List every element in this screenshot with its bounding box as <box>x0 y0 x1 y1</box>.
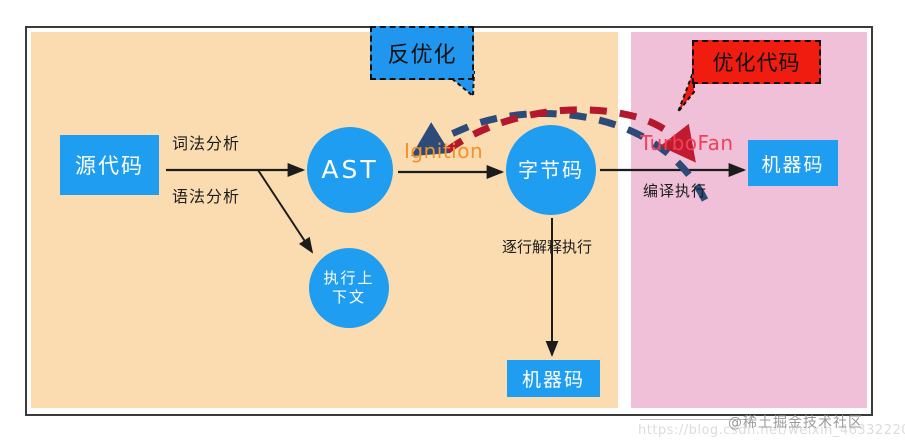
node-execution-context-label-line2: 下文 <box>332 288 366 307</box>
callout-optimize-code-label: 优化代码 <box>713 47 801 77</box>
node-machine-code-compiled[interactable]: 机器码 <box>748 140 838 186</box>
node-source-code-label: 源代码 <box>75 150 144 180</box>
node-machine-code-compiled-label: 机器码 <box>761 150 824 177</box>
node-ast[interactable]: AST <box>307 127 393 213</box>
edge-label-interpret-step-by-step: 逐行解释执行 <box>502 238 522 256</box>
edge-label-ignition: Ignition <box>404 139 483 163</box>
edge-label-syntax-analysis: 语法分析 <box>172 183 240 207</box>
callout-optimize-code[interactable]: 优化代码 <box>692 40 821 84</box>
node-source-code[interactable]: 源代码 <box>60 135 159 195</box>
node-machine-code-interpreted[interactable]: 机器码 <box>507 360 600 397</box>
node-ast-label: AST <box>321 154 378 185</box>
diagram-canvas: 源代码 AST 执行上 下文 字节码 机器码 机器码 词法分析 语法分析 Ign… <box>0 0 905 447</box>
node-execution-context[interactable]: 执行上 下文 <box>309 248 389 328</box>
compiler-panel <box>631 32 867 408</box>
node-bytecode-label: 字节码 <box>518 158 584 183</box>
node-execution-context-label-line1: 执行上 <box>323 269 374 288</box>
node-machine-code-interpreted-label: 机器码 <box>522 365 585 392</box>
interpreter-panel <box>31 32 618 408</box>
callout-deoptimize[interactable]: 反优化 <box>370 26 474 80</box>
watermark-handle: @稀土掘金技术社区 <box>728 412 863 432</box>
edge-label-lexical-analysis: 词法分析 <box>172 130 240 154</box>
callout-deoptimize-label: 反优化 <box>387 37 456 69</box>
node-bytecode[interactable]: 字节码 <box>506 125 596 215</box>
edge-label-turbofan: TurboFan <box>640 131 734 155</box>
edge-label-compile-execute: 编译执行 <box>643 180 707 201</box>
